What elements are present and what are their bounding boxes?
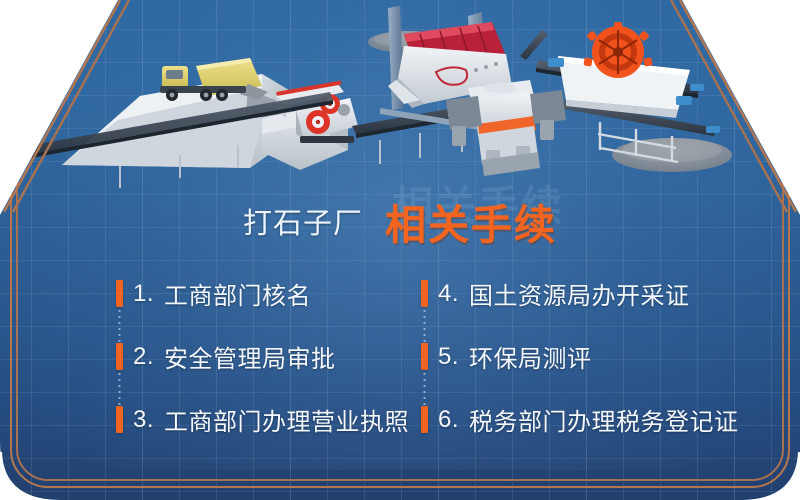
background-grid: [0, 0, 800, 500]
blue-panel: [0, 0, 800, 500]
background-grid-major: [0, 0, 800, 500]
poster-root: 相关手续 打石子厂 相关手续 1. 工商部门核名 2. 安全管理局审批: [0, 0, 800, 500]
ground-plane: [0, 0, 800, 205]
panel-glow: [0, 0, 800, 470]
